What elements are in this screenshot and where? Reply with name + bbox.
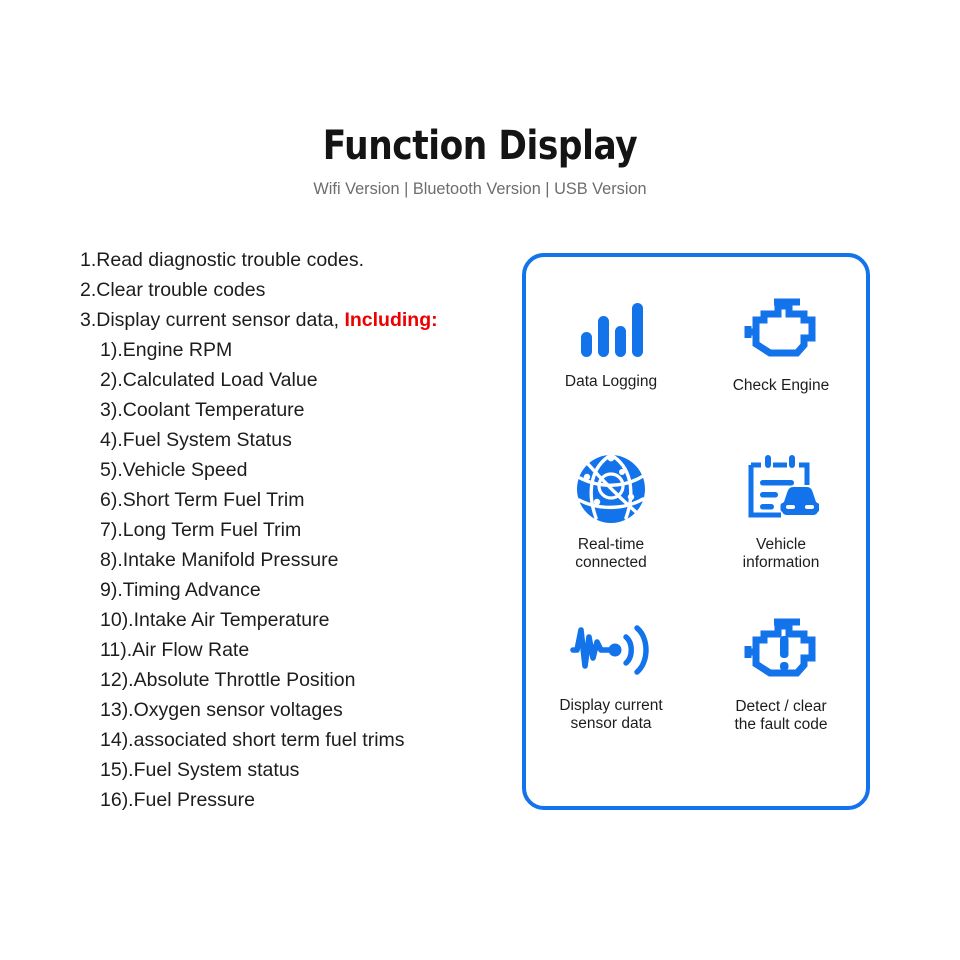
feature-card-vehicle-information: Vehicle information <box>696 451 866 611</box>
feature-card-realtime-connected: Real-time connected <box>526 451 696 611</box>
list-item-text: 6).Short Term Fuel Trim <box>100 489 304 511</box>
feature-label: Detect / clear the fault code <box>734 698 827 734</box>
list-item-text: 16).Fuel Pressure <box>100 789 255 811</box>
feature-label: Display current sensor data <box>559 697 662 733</box>
feature-icon-panel: Data Logging Check Engine <box>522 253 870 810</box>
network-globe-icon <box>574 451 648 527</box>
list-item-text: 15).Fuel System status <box>100 759 299 781</box>
list-item: 1).Engine RPM <box>80 335 500 365</box>
list-item: 15).Fuel System status <box>80 755 500 785</box>
feature-card-fault-code: Detect / clear the fault code <box>696 611 866 771</box>
list-item: 7).Long Term Fuel Trim <box>80 515 500 545</box>
list-item-text: 8).Intake Manifold Pressure <box>100 549 338 571</box>
list-item: 2.Clear trouble codes <box>80 275 500 305</box>
list-item-text: 2.Clear trouble codes <box>80 279 265 301</box>
feature-card-data-logging: Data Logging <box>526 291 696 451</box>
feature-label: Real-time connected <box>575 536 647 572</box>
page-header: Function Display Wifi Version | Bluetoot… <box>0 122 960 200</box>
list-item-text: 9).Timing Advance <box>100 579 261 601</box>
feature-label: Vehicle information <box>743 536 820 572</box>
list-item: 4).Fuel System Status <box>80 425 500 455</box>
feature-card-sensor-data: Display current sensor data <box>526 611 696 771</box>
list-item: 9).Timing Advance <box>80 575 500 605</box>
list-item-text: 14).associated short term fuel trims <box>100 729 405 751</box>
waveform-signal-icon <box>570 611 652 687</box>
feature-icon-grid: Data Logging Check Engine <box>526 291 866 771</box>
feature-label: Check Engine <box>733 377 830 395</box>
feature-label: Data Logging <box>565 373 657 391</box>
list-item-text: 11).Air Flow Rate <box>100 639 249 661</box>
page-title: Function Display <box>67 122 893 170</box>
clipboard-car-icon <box>743 451 819 527</box>
list-item: 3.Display current sensor data, Including… <box>80 305 500 335</box>
list-item: 16).Fuel Pressure <box>80 785 500 815</box>
feature-card-check-engine: Check Engine <box>696 291 866 451</box>
list-item: 10).Intake Air Temperature <box>80 605 500 635</box>
list-item: 3).Coolant Temperature <box>80 395 500 425</box>
page-subtitle: Wifi Version | Bluetooth Version | USB V… <box>19 178 941 200</box>
list-item-text: 1.Read diagnostic trouble codes. <box>80 249 364 271</box>
list-item: 14).associated short term fuel trims <box>80 725 500 755</box>
list-item: 8).Intake Manifold Pressure <box>80 545 500 575</box>
engine-warning-icon <box>740 611 822 687</box>
list-item: 12).Absolute Throttle Position <box>80 665 500 695</box>
list-item: 1.Read diagnostic trouble codes. <box>80 245 500 275</box>
list-item-text: 12).Absolute Throttle Position <box>100 669 355 691</box>
bar-chart-icon <box>577 291 645 367</box>
list-item-text: 3.Display current sensor data, <box>80 309 344 331</box>
list-item: 6).Short Term Fuel Trim <box>80 485 500 515</box>
list-item-text: 1).Engine RPM <box>100 339 232 361</box>
list-item-text: 10).Intake Air Temperature <box>100 609 329 631</box>
list-item: 5).Vehicle Speed <box>80 455 500 485</box>
list-item-text: 13).Oxygen sensor voltages <box>100 699 343 721</box>
list-item: 13).Oxygen sensor voltages <box>80 695 500 725</box>
feature-list: 1.Read diagnostic trouble codes. 2.Clear… <box>80 245 500 815</box>
list-item-text: 4).Fuel System Status <box>100 429 292 451</box>
list-item-text: 7).Long Term Fuel Trim <box>100 519 301 541</box>
list-item-text: 5).Vehicle Speed <box>100 459 247 481</box>
list-item: 2).Calculated Load Value <box>80 365 500 395</box>
list-item: 11).Air Flow Rate <box>80 635 500 665</box>
list-item-emphasis: Including: <box>344 309 437 331</box>
check-engine-icon <box>742 291 820 367</box>
list-item-text: 3).Coolant Temperature <box>100 399 305 421</box>
list-item-text: 2).Calculated Load Value <box>100 369 318 391</box>
